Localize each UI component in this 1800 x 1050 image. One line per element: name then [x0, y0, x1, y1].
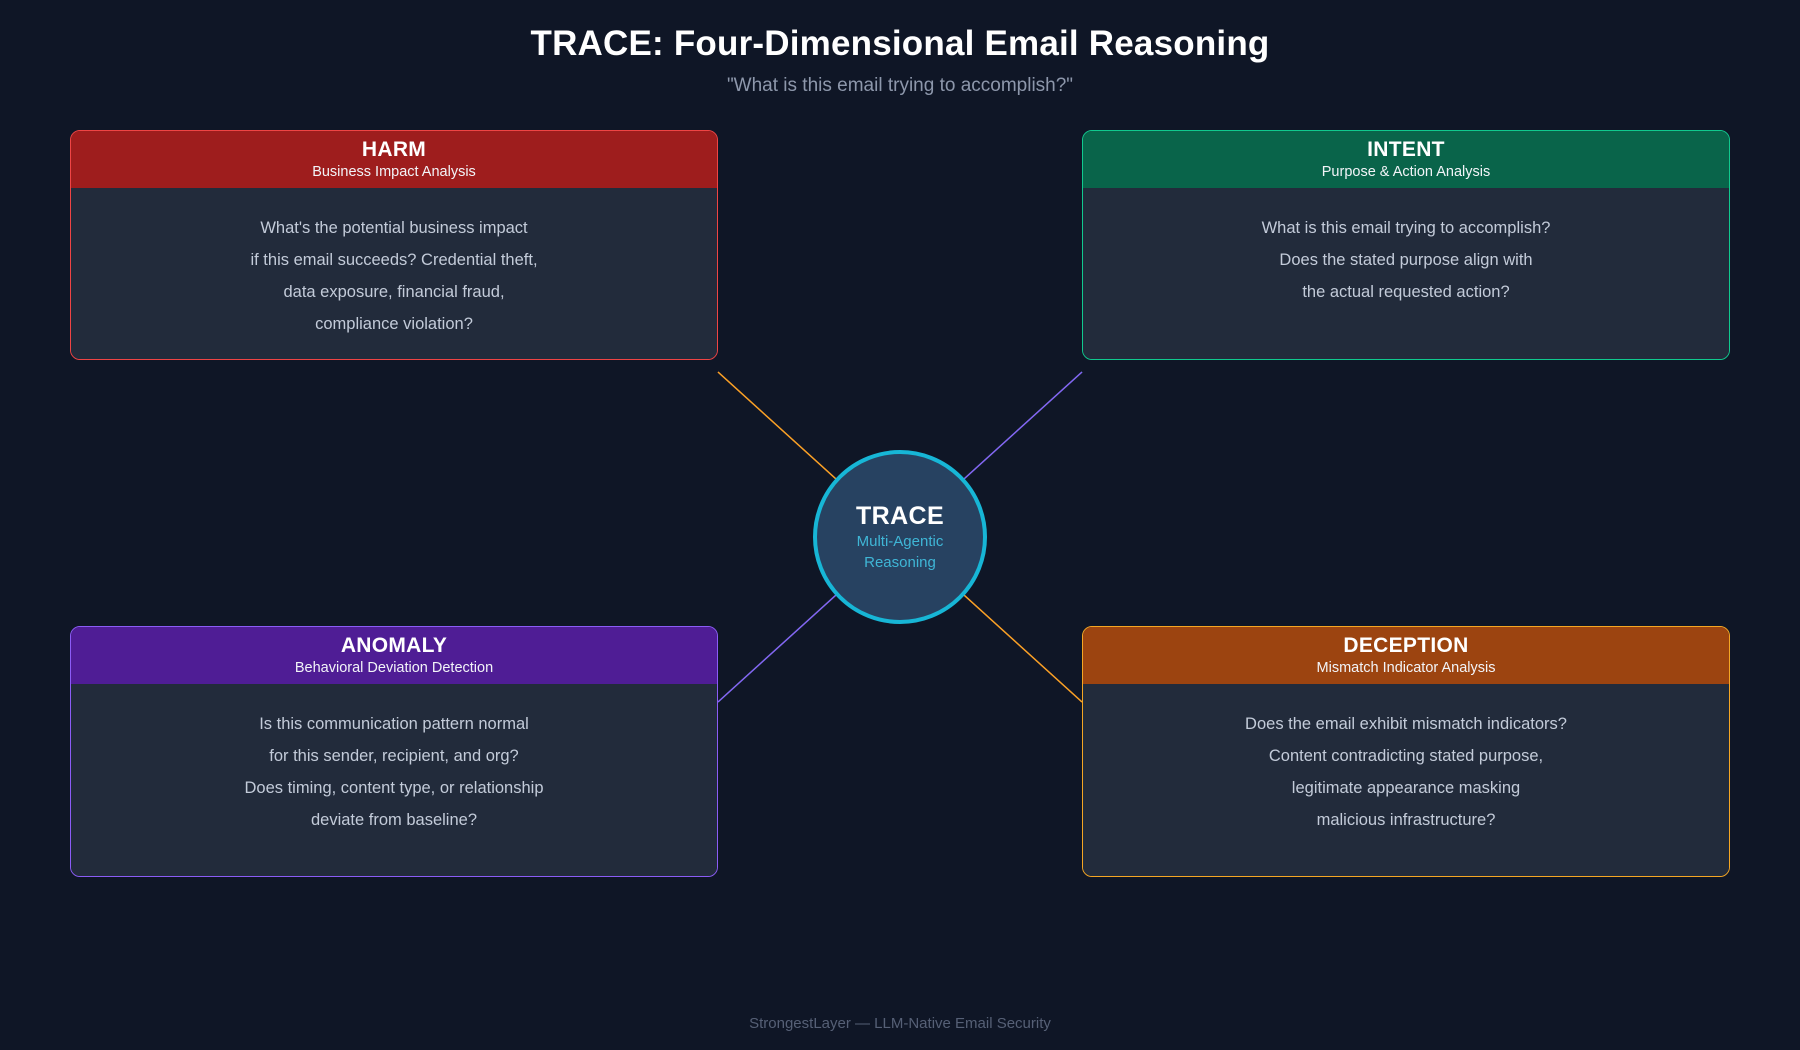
card-intent-subtitle: Purpose & Action Analysis	[1083, 162, 1729, 182]
card-intent-title: INTENT	[1083, 137, 1729, 162]
card-anomaly[interactable]: ANOMALY Behavioral Deviation Detection I…	[70, 626, 718, 877]
card-intent-body: What is this email trying to accomplish?…	[1083, 188, 1729, 359]
page-title: TRACE: Four-Dimensional Email Reasoning	[0, 24, 1800, 64]
center-hub-title: TRACE	[856, 502, 944, 530]
card-anomaly-title: ANOMALY	[71, 633, 717, 658]
card-anomaly-line-2: for this sender, recipient, and org?	[89, 740, 699, 772]
card-intent-line-2: Does the stated purpose align with	[1101, 244, 1711, 276]
page-subtitle: "What is this email trying to accomplish…	[0, 75, 1800, 97]
card-harm-header: HARM Business Impact Analysis	[71, 131, 717, 188]
card-intent[interactable]: INTENT Purpose & Action Analysis What is…	[1082, 130, 1730, 360]
card-harm-line-1: What's the potential business impact	[89, 212, 699, 244]
card-anomaly-header: ANOMALY Behavioral Deviation Detection	[71, 627, 717, 684]
card-intent-header: INTENT Purpose & Action Analysis	[1083, 131, 1729, 188]
center-hub-subtitle-line-2: Reasoning	[864, 554, 936, 571]
card-deception-line-2: Content contradicting stated purpose,	[1101, 740, 1711, 772]
card-deception-line-1: Does the email exhibit mismatch indicato…	[1101, 708, 1711, 740]
diagram-canvas: TRACE: Four-Dimensional Email Reasoning …	[0, 0, 1800, 1050]
card-intent-line-1: What is this email trying to accomplish?	[1101, 212, 1711, 244]
card-harm-line-3: data exposure, financial fraud,	[89, 276, 699, 308]
center-hub-subtitle-line-1: Multi-Agentic	[857, 533, 944, 550]
card-harm-title: HARM	[71, 137, 717, 162]
card-deception-title: DECEPTION	[1083, 633, 1729, 658]
card-harm-body: What's the potential business impact if …	[71, 188, 717, 359]
card-deception-subtitle: Mismatch Indicator Analysis	[1083, 658, 1729, 678]
card-harm-line-2: if this email succeeds? Credential theft…	[89, 244, 699, 276]
card-deception-line-3: legitimate appearance masking	[1101, 772, 1711, 804]
card-anomaly-line-4: deviate from baseline?	[89, 804, 699, 836]
card-anomaly-line-3: Does timing, content type, or relationsh…	[89, 772, 699, 804]
card-deception-header: DECEPTION Mismatch Indicator Analysis	[1083, 627, 1729, 684]
card-harm-subtitle: Business Impact Analysis	[71, 162, 717, 182]
center-hub-trace[interactable]: TRACE Multi-Agentic Reasoning	[813, 450, 987, 624]
center-hub-subtitle: Multi-Agentic Reasoning	[857, 531, 944, 573]
card-intent-line-3: the actual requested action?	[1101, 276, 1711, 308]
footer-attribution: StrongestLayer — LLM-Native Email Securi…	[0, 1015, 1800, 1032]
card-anomaly-line-1: Is this communication pattern normal	[89, 708, 699, 740]
card-deception[interactable]: DECEPTION Mismatch Indicator Analysis Do…	[1082, 626, 1730, 877]
card-harm[interactable]: HARM Business Impact Analysis What's the…	[70, 130, 718, 360]
card-anomaly-body: Is this communication pattern normal for…	[71, 684, 717, 876]
card-anomaly-subtitle: Behavioral Deviation Detection	[71, 658, 717, 678]
card-deception-line-4: malicious infrastructure?	[1101, 804, 1711, 836]
card-deception-body: Does the email exhibit mismatch indicato…	[1083, 684, 1729, 876]
card-harm-line-4: compliance violation?	[89, 308, 699, 340]
